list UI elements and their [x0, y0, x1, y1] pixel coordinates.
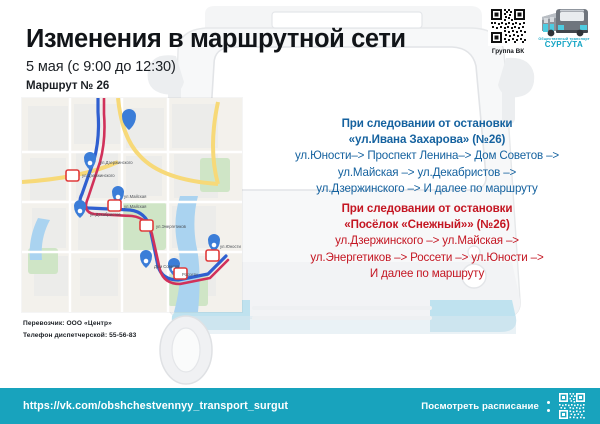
- bus-logo-icon: [536, 6, 592, 38]
- footer-right-group: Посмотреть расписание: [421, 392, 586, 420]
- poster: Изменения в маршрутной сети 5 мая (с 9:0…: [0, 0, 600, 424]
- direction-stop-line: ул.Дзержинского –> И далее по маршруту: [262, 181, 592, 198]
- page-title: Изменения в маршрутной сети: [26, 26, 406, 53]
- vk-group-caption: Группа ВК: [492, 48, 524, 55]
- map-canvas: ул.Дзержинского ул.Дзержинского ул.Майск…: [22, 98, 242, 312]
- direction-stop-line: ул.Дзержинского –> ул.Майская –>: [262, 233, 592, 250]
- svg-text:Россети: Россети: [182, 272, 198, 277]
- svg-text:ул.Майская: ул.Майская: [124, 204, 146, 209]
- svg-text:ул.Майская: ул.Майская: [124, 194, 146, 199]
- route-map[interactable]: ул.Дзержинского ул.Дзержинского ул.Майск…: [22, 98, 242, 312]
- svg-text:ул.Дзержинского: ул.Дзержинского: [82, 173, 115, 178]
- route-number-label: Маршрут № 26: [26, 80, 406, 92]
- carrier-info: Перевозчик: ООО «Центр» Телефон диспетче…: [23, 318, 136, 341]
- vk-url-link[interactable]: https://vk.com/obshchestvennyy_transport…: [23, 400, 288, 412]
- direction-heading-line2: «Посёлок «Снежный»» (№26): [262, 217, 592, 233]
- logo-text-main: СУРГУТА: [545, 41, 583, 49]
- qr-code-icon[interactable]: [558, 392, 586, 420]
- qr-code-icon[interactable]: [488, 6, 528, 46]
- direction-stop-line: ул.Юности–> Проспект Ленина–> Дом Совето…: [262, 148, 592, 165]
- svg-text:ул.Юности: ул.Юности: [220, 244, 241, 249]
- direction-block-snezhnyy: При следовании от остановки «Посёлок «Сн…: [262, 201, 592, 283]
- direction-stop-line: И далее по маршруту: [262, 266, 592, 283]
- svg-text:Дом Советов: Дом Советов: [154, 264, 180, 269]
- header: Изменения в маршрутной сети 5 мая (с 9:0…: [26, 26, 406, 92]
- direction-heading-line1: При следовании от остановки: [262, 201, 592, 217]
- vk-group-block[interactable]: Группа ВК: [487, 6, 529, 55]
- surgut-transport-logo[interactable]: Общественный транспорт СУРГУТА: [536, 6, 592, 49]
- svg-text:ул.Энергетиков: ул.Энергетиков: [156, 224, 187, 229]
- carrier-name: Перевозчик: ООО «Центр»: [23, 318, 136, 330]
- direction-stop-line: ул.Майская –> ул.Декабристов –>: [262, 165, 592, 182]
- direction-heading-line2: «ул.Ивана Захарова» (№26): [262, 132, 592, 148]
- footer-bar: https://vk.com/obshchestvennyy_transport…: [0, 388, 600, 424]
- direction-heading-line1: При следовании от остановки: [262, 116, 592, 132]
- view-schedule-label[interactable]: Посмотреть расписание: [421, 401, 539, 412]
- svg-text:ул.Декабристов: ул.Декабристов: [90, 212, 121, 217]
- header-subtitle: 5 мая (с 9:00 до 12:30): [26, 59, 406, 75]
- dispatcher-phone: Телефон диспетчерской: 55-56-83: [23, 330, 136, 342]
- route-directions-panel: При следовании от остановки «ул.Ивана За…: [262, 116, 592, 283]
- direction-block-zaharova: При следовании от остановки «ул.Ивана За…: [262, 116, 592, 198]
- svg-text:ул.Дзержинского: ул.Дзержинского: [100, 160, 133, 165]
- dots-separator-icon: [547, 401, 550, 412]
- brand-bar: Группа ВК: [487, 6, 592, 55]
- direction-stop-line: ул.Энергетиков –> Россети –> ул.Юности –…: [262, 250, 592, 267]
